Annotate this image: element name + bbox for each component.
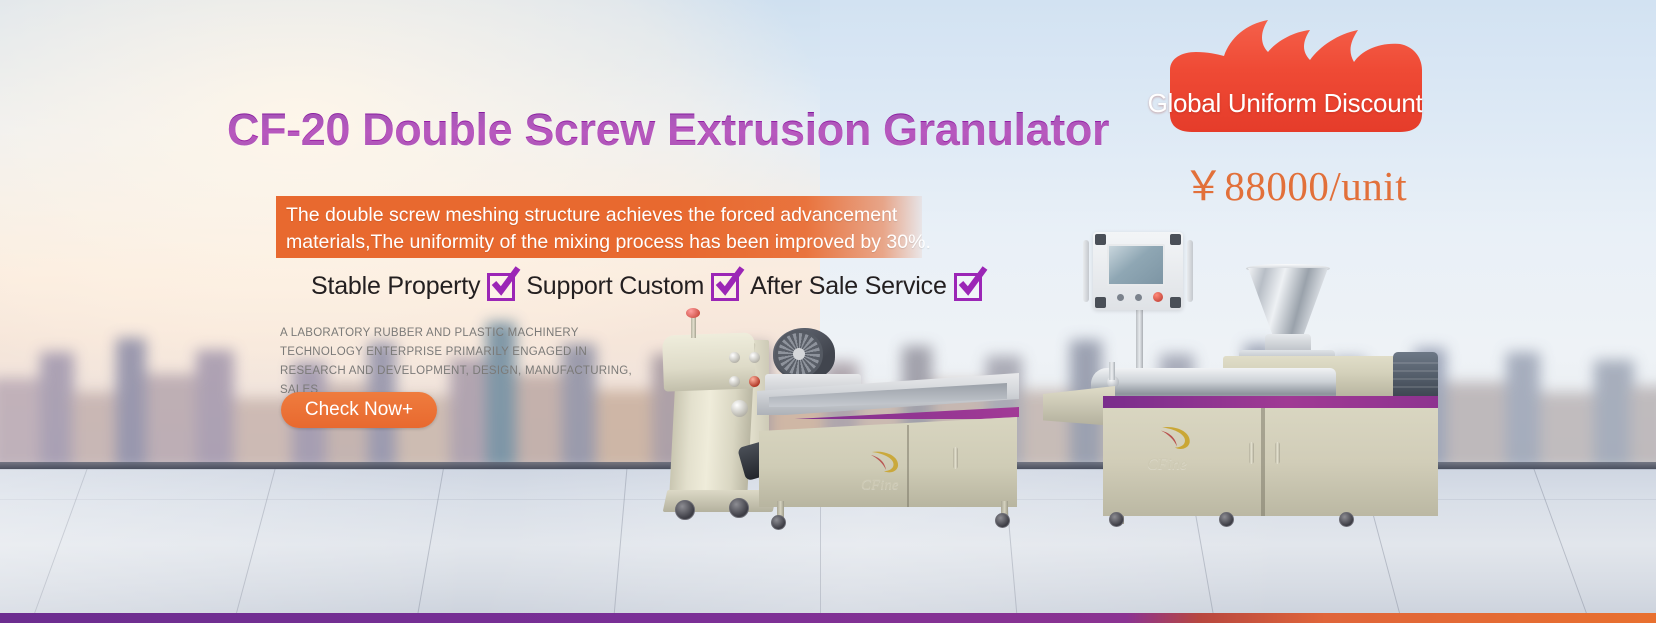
water-bath-conveyor-image: CFine <box>757 373 1019 518</box>
checkmark-icon <box>487 273 515 301</box>
check-now-button[interactable]: Check Now+ <box>281 392 437 428</box>
bottom-accent-bar <box>0 613 1656 623</box>
feature-list: Stable Property Support Custom After Sal… <box>311 272 993 301</box>
checkmark-icon <box>954 273 982 301</box>
hmi-control-panel <box>1093 232 1183 310</box>
description-callout: The double screw meshing structure achie… <box>276 196 922 258</box>
page-title: CF-20 Double Screw Extrusion Granulator <box>227 104 1109 156</box>
feature-label-after-sale-service: After Sale Service <box>750 272 947 301</box>
cfine-swoosh-icon <box>1159 424 1195 457</box>
price-label: ￥88000/unit <box>1170 152 1420 212</box>
twin-screw-extruder-image: CFine <box>1043 200 1438 525</box>
feature-label-support-custom: Support Custom <box>526 272 704 301</box>
brand-logo-text: CFine <box>861 477 899 494</box>
checkmark-icon <box>711 273 739 301</box>
brand-logo-text: CFine <box>1147 456 1187 474</box>
material-hopper <box>1248 268 1328 338</box>
company-description: A LABORATORY RUBBER AND PLASTIC MACHINER… <box>280 324 650 400</box>
discount-badge[interactable]: Global Uniform Discount <box>1142 18 1428 134</box>
description-line-1: The double screw meshing structure achie… <box>286 202 922 229</box>
cfine-swoosh-icon <box>869 449 903 480</box>
promo-banner: CFine <box>0 0 1656 623</box>
feature-label-stable-property: Stable Property <box>311 272 480 301</box>
discount-badge-label: Global Uniform Discount <box>1142 88 1428 119</box>
description-line-2: materials,The uniformity of the mixing p… <box>286 229 922 256</box>
